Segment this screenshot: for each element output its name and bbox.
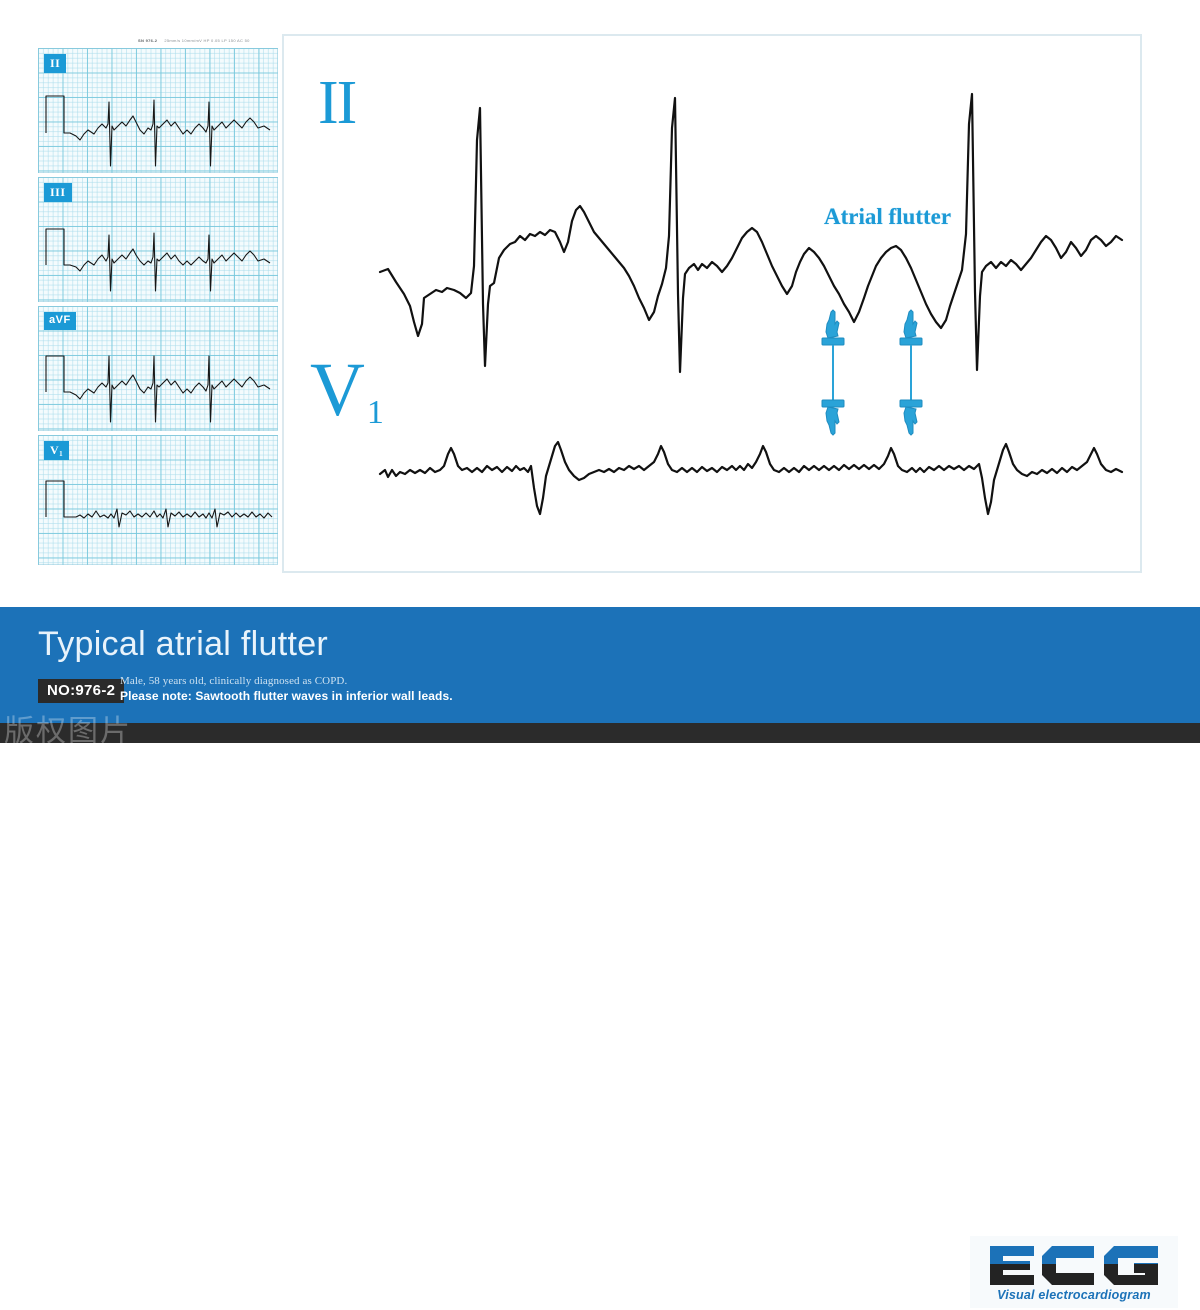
strip-trace-iii [38,177,278,302]
ecg-logo-wordmark [986,1243,1162,1287]
strip-lead-iii: III [38,177,278,302]
lead-strip-column: SN 976-2 25mm/s 10mm/mV HP 0.05 LP 150 A… [38,34,278,574]
banner-bottom-strip [0,723,1200,743]
ecg-logo: Visual electrocardiogram [968,1234,1180,1310]
strip-trace-avf [38,306,278,431]
main-ecg-panel: II V1 Atrial flutter [282,34,1142,573]
bottom-banner: Typical atrial flutter NO:976-2 Male, 58… [0,607,1200,723]
ecg-logo-subtitle: Visual electrocardiogram [997,1288,1151,1302]
banner-title: Typical atrial flutter [38,625,328,664]
machine-header-left: SN 976-2 [138,38,157,43]
strip-trace-v1 [38,435,278,565]
caption-note: Please note: Sawtooth flutter waves in i… [120,689,453,703]
strip-lead-ii: II [38,48,278,173]
machine-header-text: SN 976-2 25mm/s 10mm/mV HP 0.05 LP 150 A… [138,38,278,48]
ecg-figure: SN 976-2 25mm/s 10mm/mV HP 0.05 LP 150 A… [0,0,1200,743]
caliper-icon-right [896,308,928,436]
ecg-logo-icon [986,1243,1162,1287]
machine-header-right: 25mm/s 10mm/mV HP 0.05 LP 150 AC 50 [164,38,249,43]
caption-block: Male, 58 years old, clinically diagnosed… [120,675,453,703]
strip-lead-v1: V1 [38,435,278,565]
caption-patient-info: Male, 58 years old, clinically diagnosed… [120,675,453,687]
caliper-marker-right [896,308,928,441]
caliper-marker-left [818,308,850,441]
main-trace-lead-v1 [380,442,1122,514]
strip-lead-avf: aVF [38,306,278,431]
main-trace-lead-ii [380,94,1122,372]
strip-trace-ii [38,48,278,173]
case-number-badge: NO:976-2 [38,679,124,703]
main-waveforms [284,36,1140,571]
caliper-icon-left [818,308,850,436]
